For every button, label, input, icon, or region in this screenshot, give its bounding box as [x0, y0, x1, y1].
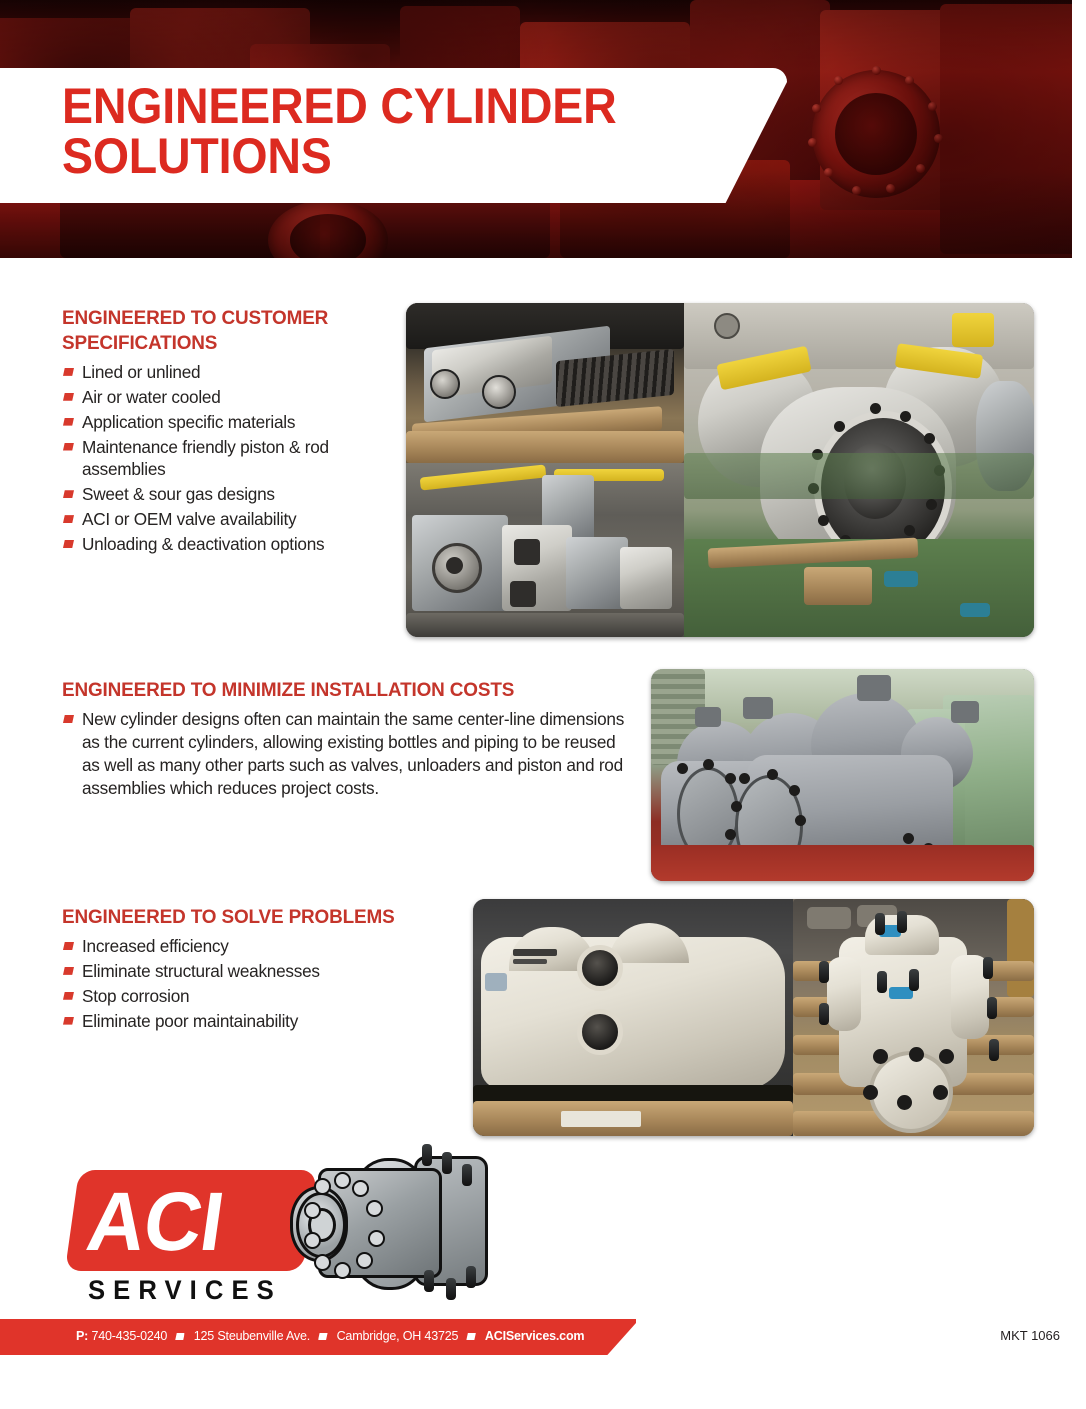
section-3-heading: ENGINEERED TO SOLVE PROBLEMS	[62, 905, 450, 930]
list-item: Eliminate poor maintainability	[62, 1010, 462, 1033]
section-1-bullet-list: Lined or unlined Air or water cooled App…	[62, 361, 392, 556]
header-banner-photo: ENGINEERED CYLINDER SOLUTIONS	[0, 0, 1072, 258]
section-minimize-installation-costs: ENGINEERED TO MINIMIZE INSTALLATION COST…	[62, 678, 627, 801]
list-item: Unloading & deactivation options	[62, 533, 392, 556]
section-1-photo-gallery	[406, 303, 1034, 637]
section-3-bullet-list: Increased efficiency Eliminate structura…	[62, 935, 462, 1033]
footer-contact-info: P: 740-435-0240 125 Steubenville Ave. Ca…	[76, 1328, 589, 1343]
section-1-heading-line2: SPECIFICATIONS	[62, 332, 217, 354]
page-title-line1: ENGINEERED CYLINDER	[62, 78, 617, 134]
photo-cylinder-casting	[473, 899, 793, 1136]
photo-compressor-cylinders	[651, 669, 1034, 881]
footer-separator-icon	[175, 1333, 185, 1340]
document-code: MKT 1066	[1000, 1328, 1060, 1343]
title-banner: ENGINEERED CYLINDER SOLUTIONS	[0, 68, 787, 203]
list-item: Lined or unlined	[62, 361, 392, 384]
page-title: ENGINEERED CYLINDER SOLUTIONS	[62, 82, 680, 181]
list-item: Increased efficiency	[62, 935, 462, 958]
photo-cylinder-crate	[406, 303, 684, 463]
footer-separator-icon	[466, 1333, 476, 1340]
footer-address: 125 Steubenville Ave.	[194, 1328, 310, 1343]
section-1-heading-line1: ENGINEERED TO CUSTOMER	[62, 307, 328, 329]
flyer-page: ENGINEERED CYLINDER SOLUTIONS ENGINEERED…	[0, 0, 1086, 1409]
list-item: Sweet & sour gas designs	[62, 483, 392, 506]
section-2-photo	[651, 669, 1034, 881]
section-solve-problems: ENGINEERED TO SOLVE PROBLEMS Increased e…	[62, 905, 462, 1034]
footer-phone-label: P:	[76, 1328, 88, 1343]
list-item: Application specific materials	[62, 411, 392, 434]
section-1-heading: ENGINEERED TO CUSTOMER SPECIFICATIONS	[62, 306, 382, 356]
section-customer-specifications: ENGINEERED TO CUSTOMER SPECIFICATIONS Li…	[62, 306, 392, 558]
list-item: ACI or OEM valve availability	[62, 508, 392, 531]
page-title-line2: SOLUTIONS	[62, 132, 680, 182]
photo-cylinders-on-skids	[684, 303, 1034, 637]
footer-city-state-zip: Cambridge, OH 43725	[337, 1328, 459, 1343]
photo-cylinder-on-pallet	[793, 899, 1034, 1136]
photo-machined-blocks	[406, 463, 684, 637]
list-item: Maintenance friendly piston & rod assemb…	[62, 436, 392, 482]
list-item: Air or water cooled	[62, 386, 392, 409]
section-2-heading: ENGINEERED TO MINIMIZE INSTALLATION COST…	[62, 678, 610, 703]
footer-separator-icon	[318, 1333, 328, 1340]
footer-website-link[interactable]: ACIServices.com	[485, 1328, 585, 1343]
list-item: Eliminate structural weaknesses	[62, 960, 462, 983]
footer-phone: 740-435-0240	[91, 1328, 167, 1343]
section-3-photo-gallery	[473, 899, 1034, 1136]
list-item: Stop corrosion	[62, 985, 462, 1008]
aci-services-logo: ACI SERVICES	[66, 1138, 496, 1310]
section-2-bullet-list: New cylinder designs often can maintain …	[62, 708, 627, 800]
list-item: New cylinder designs often can maintain …	[62, 708, 627, 800]
compressor-cylinder-icon	[274, 1138, 492, 1310]
